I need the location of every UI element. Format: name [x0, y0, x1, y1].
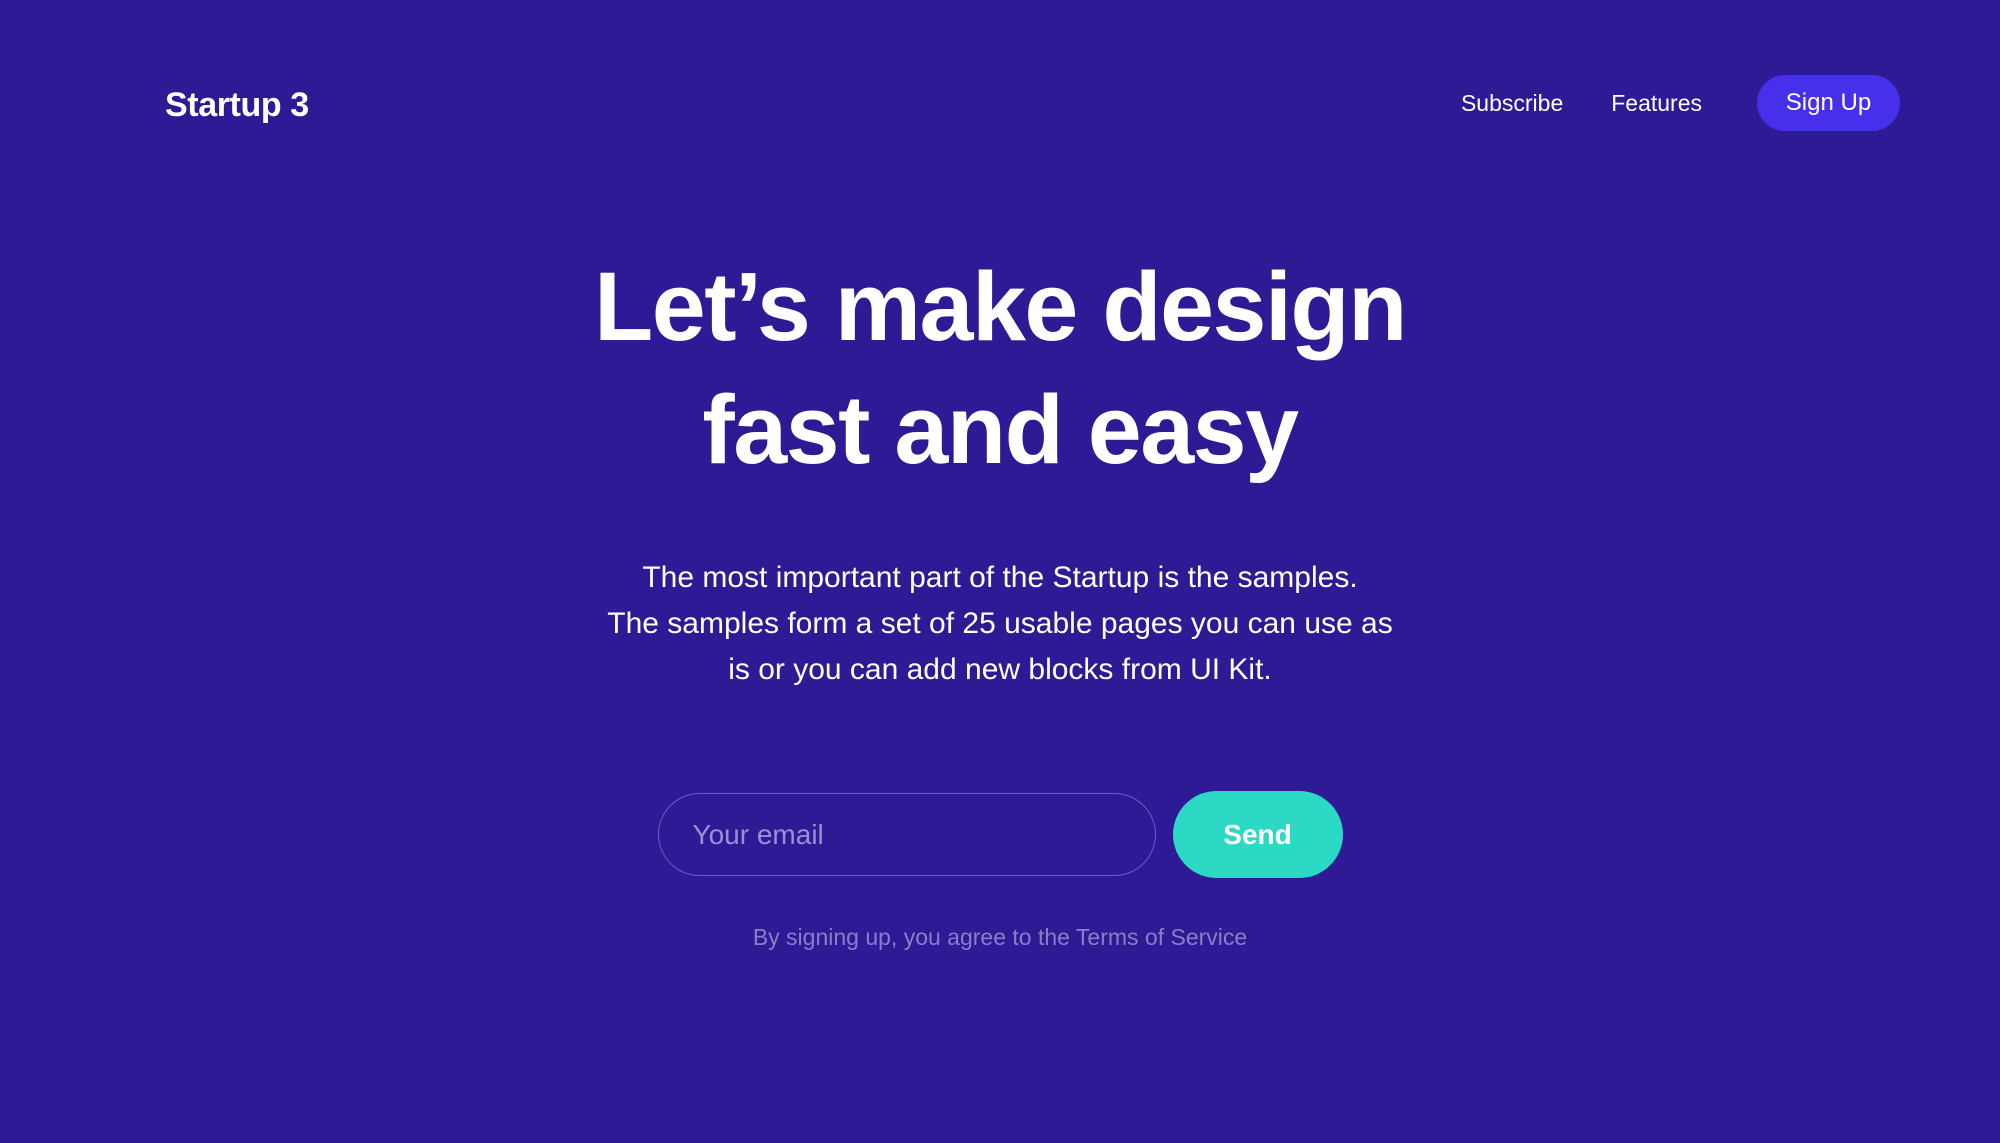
subcopy-line-1: The most important part of the Startup i… — [607, 555, 1392, 601]
email-input[interactable] — [658, 793, 1156, 876]
send-button[interactable]: Send — [1173, 791, 1343, 878]
brand-logo[interactable]: Startup 3 — [165, 88, 309, 122]
subcopy-line-2: The samples form a set of 25 usable page… — [607, 601, 1392, 647]
email-signup-form: Send — [658, 791, 1343, 878]
nav-link-features[interactable]: Features — [1611, 78, 1702, 129]
page-title: Let’s make design fast and easy — [594, 245, 1406, 491]
hero-page: Startup 3 Subscribe Features Sign Up Let… — [0, 0, 2000, 1143]
hero-section: Let’s make design fast and easy The most… — [0, 245, 2000, 949]
main-navigation: Subscribe Features Sign Up — [1461, 75, 1900, 131]
hero-description: The most important part of the Startup i… — [607, 555, 1392, 693]
nav-link-subscribe[interactable]: Subscribe — [1461, 78, 1563, 129]
sign-up-button[interactable]: Sign Up — [1757, 75, 1900, 131]
headline-line-2: fast and easy — [594, 368, 1406, 491]
site-header: Startup 3 Subscribe Features Sign Up — [0, 0, 2000, 200]
headline-line-1: Let’s make design — [594, 245, 1406, 368]
subcopy-line-3: is or you can add new blocks from UI Kit… — [607, 647, 1392, 693]
terms-notice[interactable]: By signing up, you agree to the Terms of… — [753, 926, 1247, 949]
